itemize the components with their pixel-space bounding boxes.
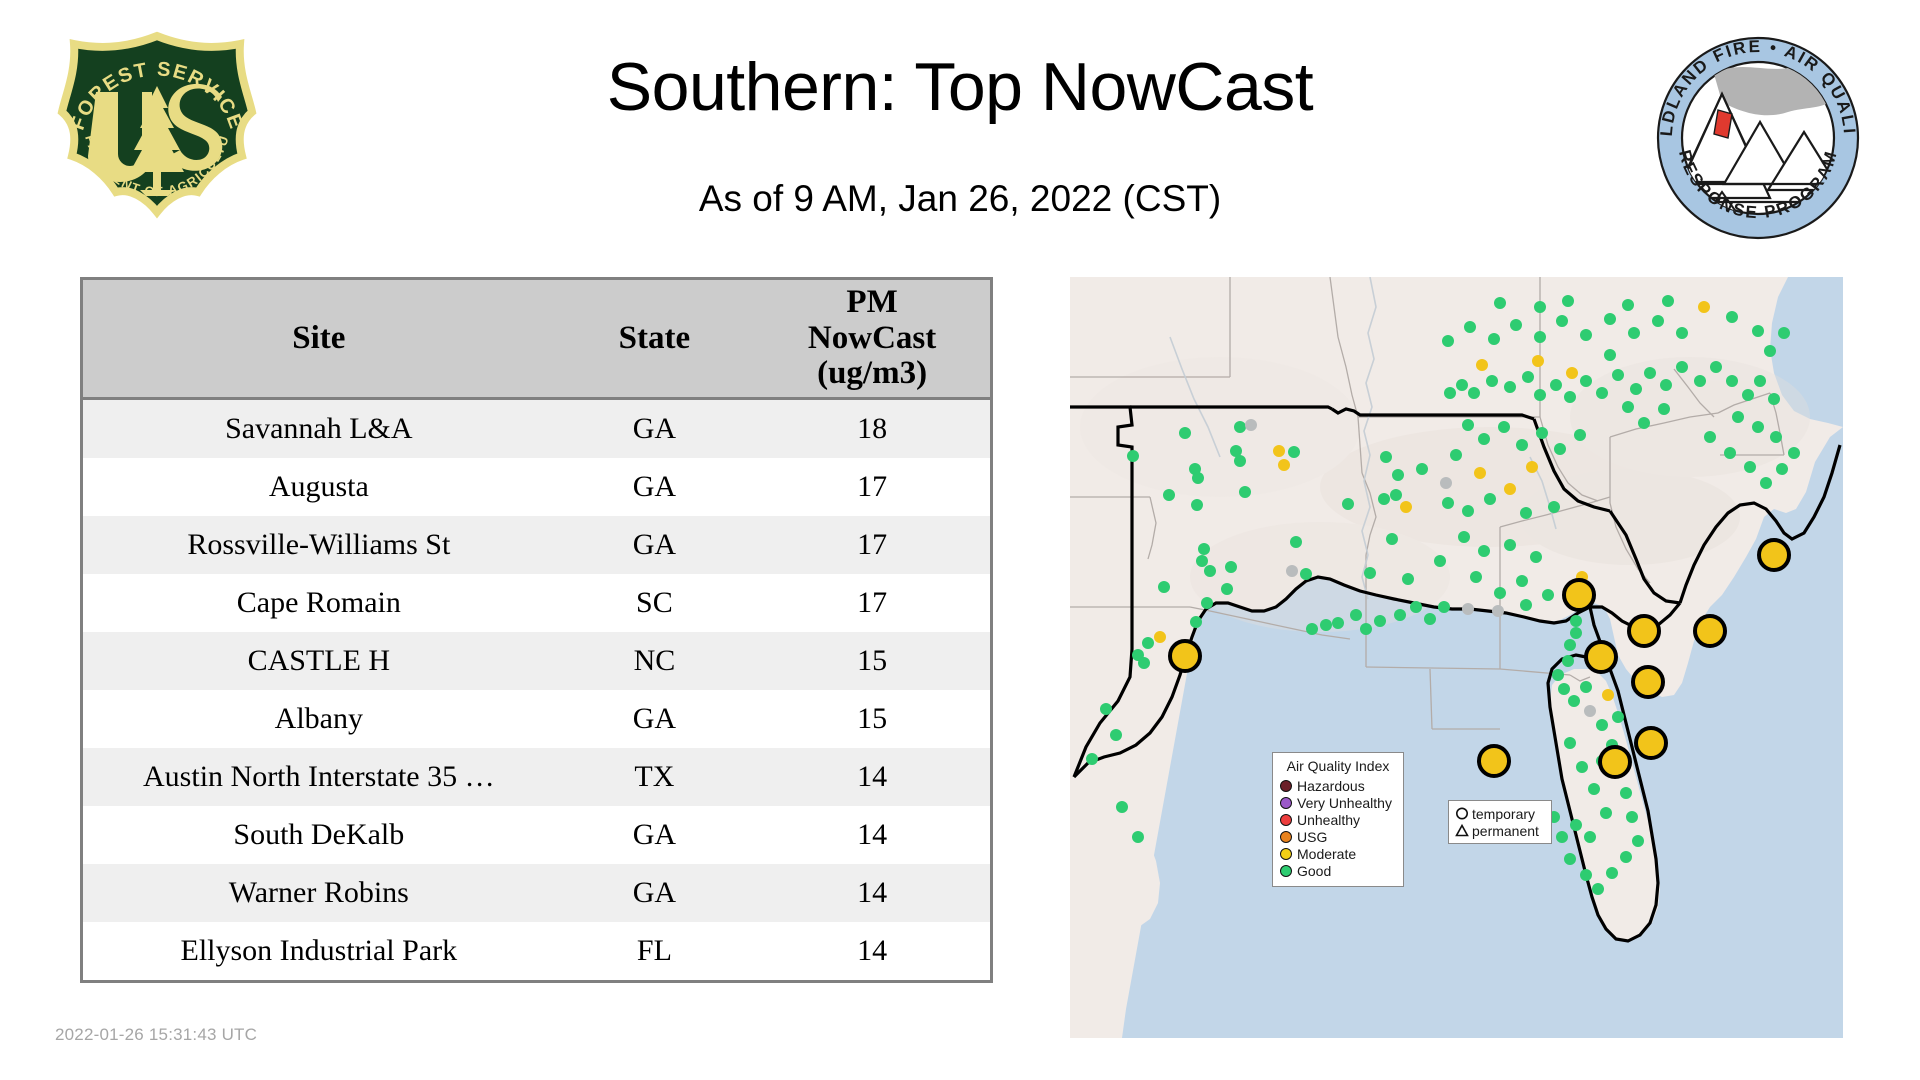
site-type-temporary-row: temporary	[1454, 805, 1546, 822]
aqi-legend-item: Moderate	[1280, 845, 1396, 862]
wfaqrp-logo: WILDLAND FIRE • AIR QUALITY RESPONSE PRO…	[1652, 32, 1864, 244]
highlighted-site-marker[interactable]	[1633, 667, 1663, 697]
highlighted-site-marker[interactable]	[1695, 616, 1725, 646]
cell-pm-nowcast: 17	[754, 516, 990, 574]
cell-state: NC	[555, 632, 755, 690]
cell-state: GA	[555, 864, 755, 922]
nowcast-table-container: Site State PM NowCast (ug/m3) Savannah L…	[80, 277, 993, 983]
aqi-legend-label: Moderate	[1297, 846, 1356, 862]
column-header-state[interactable]: State	[555, 280, 755, 399]
cell-state: SC	[555, 574, 755, 632]
table-row[interactable]: South DeKalbGA14	[83, 806, 990, 864]
cell-pm-nowcast: 14	[754, 864, 990, 922]
cell-site: Albany	[83, 690, 555, 748]
cell-state: GA	[555, 399, 755, 459]
table-header-row: Site State PM NowCast (ug/m3)	[83, 280, 990, 399]
cell-pm-nowcast: 17	[754, 574, 990, 632]
highlighted-site-marker[interactable]	[1564, 580, 1594, 610]
highlighted-site-marker[interactable]	[1759, 540, 1789, 570]
cell-site: CASTLE H	[83, 632, 555, 690]
usfs-shield-svg: FOREST SERVICE DEPARTMENT OF AGRICULTURE	[52, 28, 262, 238]
cell-pm-nowcast: 15	[754, 632, 990, 690]
cell-site: Austin North Interstate 35 …	[83, 748, 555, 806]
aqi-legend-label: Unhealthy	[1297, 812, 1360, 828]
cell-site: Rossville-Williams St	[83, 516, 555, 574]
aqi-legend-label: Hazardous	[1297, 778, 1365, 794]
cell-state: FL	[555, 922, 755, 980]
cell-pm-nowcast: 14	[754, 748, 990, 806]
aqi-legend-item: USG	[1280, 828, 1396, 845]
cell-site: Warner Robins	[83, 864, 555, 922]
aqi-color-swatch	[1280, 814, 1292, 826]
cell-pm-nowcast: 18	[754, 399, 990, 459]
cell-state: GA	[555, 806, 755, 864]
cell-pm-nowcast: 14	[754, 806, 990, 864]
cell-pm-nowcast: 17	[754, 458, 990, 516]
aqi-legend-rows: HazardousVery UnhealthyUnhealthyUSGModer…	[1280, 777, 1396, 879]
aqi-color-swatch	[1280, 780, 1292, 792]
column-header-pm-line2: NowCast	[754, 321, 990, 357]
site-type-legend: temporary permanent	[1448, 800, 1552, 844]
cell-site: Cape Romain	[83, 574, 555, 632]
aqi-color-swatch	[1280, 865, 1292, 877]
cell-site: South DeKalb	[83, 806, 555, 864]
aqi-legend: Air Quality Index HazardousVery Unhealth…	[1272, 752, 1404, 887]
column-header-pm-nowcast[interactable]: PM NowCast (ug/m3)	[754, 280, 990, 399]
highlighted-site-marker[interactable]	[1600, 747, 1630, 777]
table-row[interactable]: CASTLE HNC15	[83, 632, 990, 690]
map-svg	[1070, 277, 1843, 1038]
cell-site: Savannah L&A	[83, 399, 555, 459]
cell-state: GA	[555, 516, 755, 574]
site-type-permanent-label: permanent	[1472, 823, 1539, 839]
table-body: Savannah L&AGA18AugustaGA17Rossville-Wil…	[83, 399, 990, 981]
column-header-pm-line1: PM	[754, 285, 990, 321]
site-type-permanent-row: permanent	[1454, 822, 1546, 839]
page-subtitle: As of 9 AM, Jan 26, 2022 (CST)	[300, 178, 1620, 220]
table-row[interactable]: Rossville-Williams StGA17	[83, 516, 990, 574]
aqi-legend-label: USG	[1297, 829, 1327, 845]
nowcast-table: Site State PM NowCast (ug/m3) Savannah L…	[83, 280, 990, 980]
page-title: Southern: Top NowCast	[300, 48, 1620, 126]
aqi-legend-item: Hazardous	[1280, 777, 1396, 794]
circle-icon	[1454, 806, 1470, 821]
cell-state: GA	[555, 690, 755, 748]
table-row[interactable]: AugustaGA17	[83, 458, 990, 516]
cell-pm-nowcast: 15	[754, 690, 990, 748]
generation-timestamp: 2022-01-26 15:31:43 UTC	[55, 1025, 257, 1045]
aqi-legend-title: Air Quality Index	[1280, 758, 1396, 774]
aqi-color-swatch	[1280, 848, 1292, 860]
aqi-legend-item: Very Unhealthy	[1280, 794, 1396, 811]
highlighted-site-marker[interactable]	[1636, 728, 1666, 758]
cell-pm-nowcast: 14	[754, 922, 990, 980]
table-row[interactable]: AlbanyGA15	[83, 690, 990, 748]
highlighted-site-marker[interactable]	[1586, 642, 1616, 672]
table-row[interactable]: Warner RobinsGA14	[83, 864, 990, 922]
table-row[interactable]: Cape RomainSC17	[83, 574, 990, 632]
flame-marker	[1714, 110, 1732, 138]
aqi-legend-item: Good	[1280, 862, 1396, 879]
cell-state: GA	[555, 458, 755, 516]
table-header: Site State PM NowCast (ug/m3)	[83, 280, 990, 399]
aqi-color-swatch	[1280, 797, 1292, 809]
aqi-map[interactable]	[1070, 277, 1843, 1038]
column-header-pm-line3: (ug/m3)	[754, 356, 990, 392]
highlighted-site-marker[interactable]	[1629, 616, 1659, 646]
cell-site: Augusta	[83, 458, 555, 516]
column-header-site[interactable]: Site	[83, 280, 555, 399]
cell-site: Ellyson Industrial Park	[83, 922, 555, 980]
aqi-legend-item: Unhealthy	[1280, 811, 1396, 828]
cell-state: TX	[555, 748, 755, 806]
highlighted-site-marker[interactable]	[1479, 746, 1509, 776]
usfs-forest-service-logo: FOREST SERVICE DEPARTMENT OF AGRICULTURE	[52, 28, 262, 238]
wfaqrp-logo-svg: WILDLAND FIRE • AIR QUALITY RESPONSE PRO…	[1652, 32, 1864, 244]
table-row[interactable]: Ellyson Industrial ParkFL14	[83, 922, 990, 980]
table-row[interactable]: Austin North Interstate 35 …TX14	[83, 748, 990, 806]
aqi-legend-label: Very Unhealthy	[1297, 795, 1392, 811]
highlighted-site-marker[interactable]	[1170, 641, 1200, 671]
site-type-temporary-label: temporary	[1472, 806, 1535, 822]
triangle-icon	[1454, 823, 1470, 838]
table-row[interactable]: Savannah L&AGA18	[83, 399, 990, 459]
aqi-legend-label: Good	[1297, 863, 1331, 879]
aqi-color-swatch	[1280, 831, 1292, 843]
